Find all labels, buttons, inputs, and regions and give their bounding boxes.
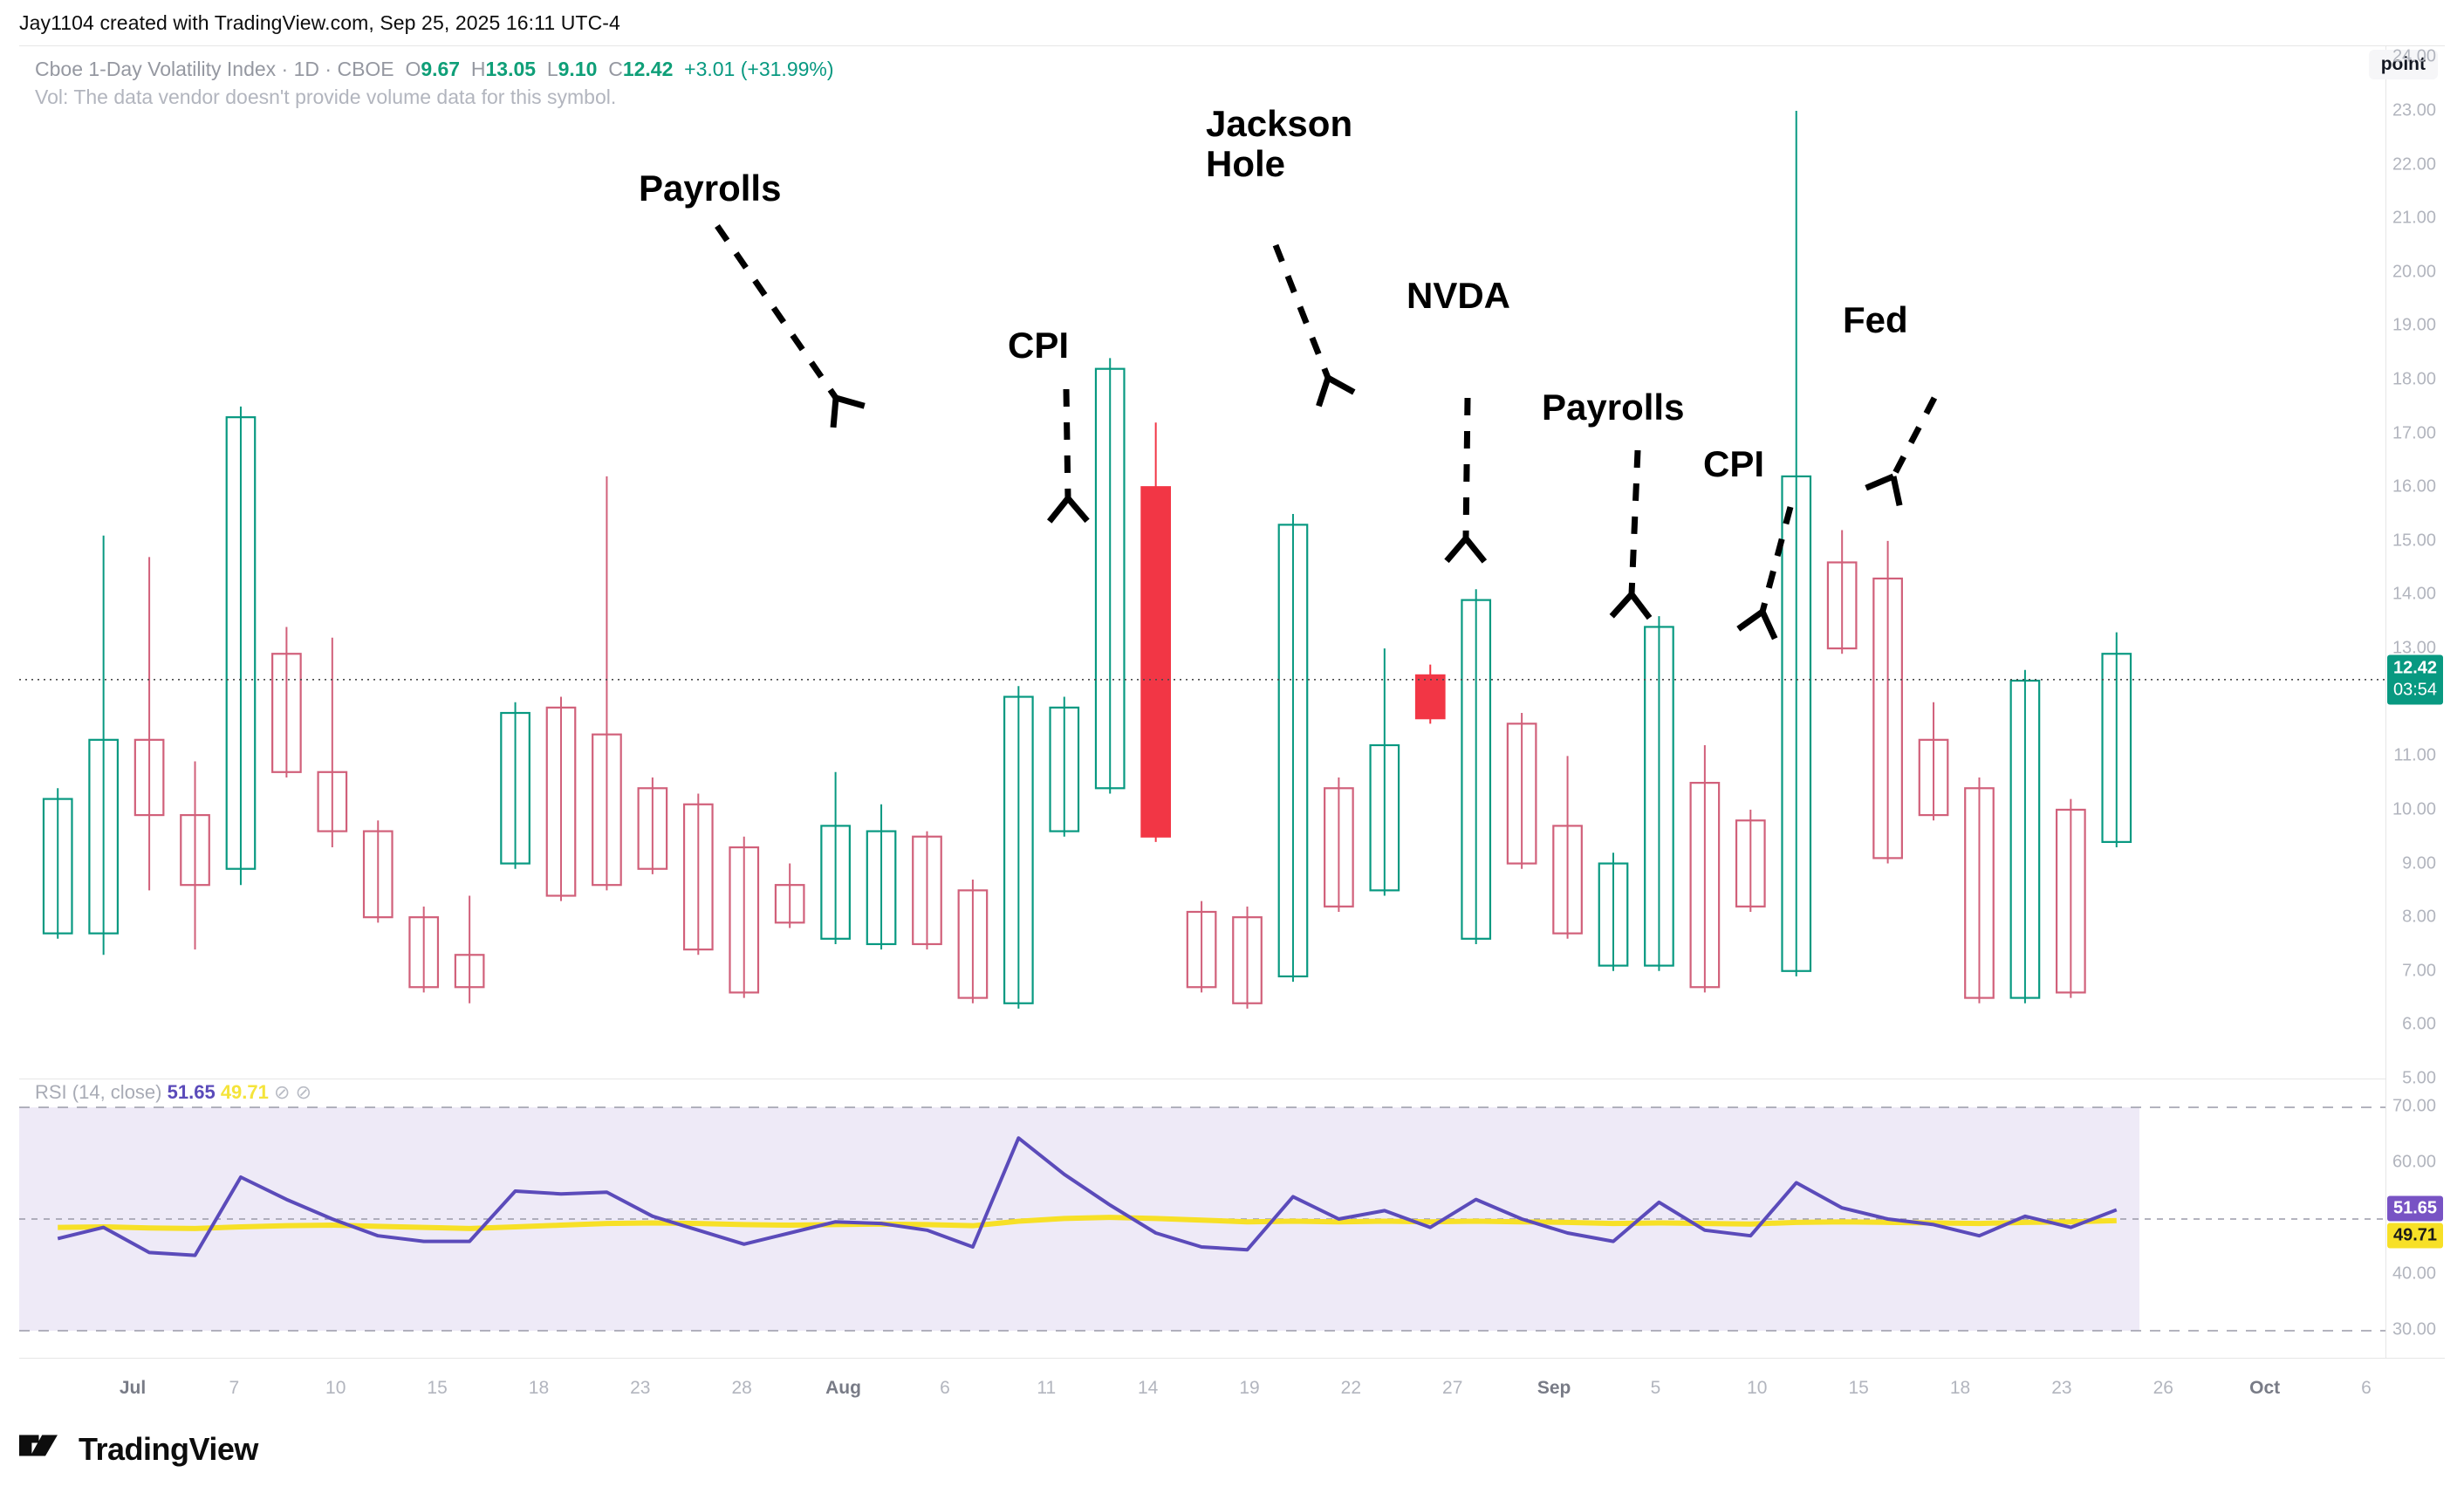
price-tick: 7.00: [2402, 961, 2436, 981]
legend-line-1: Cboe 1-Day Volatility Index · 1D · CBOE …: [35, 55, 834, 83]
high-label: H: [471, 58, 486, 80]
price-pane[interactable]: Cboe 1-Day Volatility Index · 1D · CBOE …: [19, 46, 2385, 1079]
price-tick: 6.00: [2402, 1015, 2436, 1035]
time-tick-month: Jul: [120, 1378, 146, 1399]
annotation-arrow-head: [1318, 378, 1328, 406]
time-tick-month: Oct: [2249, 1378, 2280, 1399]
attribution-bar: Jay1104 created with TradingView.com, Se…: [0, 0, 2464, 45]
annotation-arrow-head: [1612, 594, 1632, 616]
annotation-arrow-head: [1447, 538, 1466, 561]
annotation-arrow-head: [1762, 612, 1775, 639]
candle-body: [1141, 487, 1170, 836]
time-tick-day: 27: [1442, 1378, 1462, 1399]
rsi-pane[interactable]: RSI (14, close) 51.65 49.71 ⊘ ⊘: [19, 1079, 2385, 1358]
annotation-arrow-head: [1738, 612, 1762, 629]
rsi-tick: 30.00: [2392, 1320, 2436, 1340]
time-tick-day: 22: [1341, 1378, 1361, 1399]
annotation-arrow-head: [1632, 594, 1650, 618]
annotation-label[interactable]: NVDA: [1407, 276, 1510, 316]
price-tick: 19.00: [2392, 316, 2436, 336]
time-tick-day: 18: [1950, 1378, 1970, 1399]
rsi-indicator-name[interactable]: RSI (14, close): [35, 1081, 162, 1103]
annotation-arrow-head: [1068, 498, 1087, 521]
legend-interval[interactable]: 1D: [294, 58, 319, 80]
time-tick-day: 7: [229, 1378, 240, 1399]
annotation-arrow-line: [1066, 389, 1068, 498]
price-tick: 17.00: [2392, 423, 2436, 443]
rsi-ma-value-badge: 49.71: [2387, 1223, 2443, 1248]
legend-sep-1: ·: [276, 58, 293, 80]
rsi-tick: 60.00: [2392, 1153, 2436, 1173]
annotation-arrow-head: [1466, 538, 1484, 561]
annotation-arrow-line: [1466, 398, 1468, 538]
candle-body: [1416, 675, 1445, 718]
price-tick: 8.00: [2402, 908, 2436, 928]
annotation-label[interactable]: Jackson Hole: [1206, 104, 1352, 184]
price-tick: 24.00: [2392, 47, 2436, 67]
rsi-tick: 40.00: [2392, 1264, 2436, 1284]
candlestick-canvas: [19, 46, 2385, 1079]
annotation-arrow-head: [833, 398, 836, 428]
chart-legend: Cboe 1-Day Volatility Index · 1D · CBOE …: [35, 55, 834, 111]
change-percent: (+31.99%): [741, 58, 834, 80]
time-tick-day: 15: [1848, 1378, 1868, 1399]
annotation-arrow-line: [1276, 245, 1328, 378]
legend-exchange: CBOE: [337, 58, 394, 80]
last-price-badge: 12.42 03:54: [2387, 654, 2443, 704]
annotation-arrow-head: [1893, 476, 1899, 505]
time-tick-day: 19: [1239, 1378, 1259, 1399]
annotation-label[interactable]: Payrolls: [1542, 387, 1684, 428]
price-axis[interactable]: point 24.0023.0022.0021.0020.0019.0018.0…: [2385, 46, 2445, 1079]
change-value: +3.01: [684, 58, 735, 80]
bar-countdown: 03:54: [2387, 679, 2443, 701]
rsi-ma-value: 49.71: [221, 1081, 269, 1103]
time-tick-day: 18: [529, 1378, 549, 1399]
annotation-arrow-line: [1632, 450, 1638, 594]
price-tick: 21.00: [2392, 209, 2436, 229]
time-tick-day: 6: [940, 1378, 950, 1399]
annotation-label[interactable]: Payrolls: [639, 168, 781, 209]
time-tick-day: 5: [1651, 1378, 1661, 1399]
high-value: 13.05: [486, 58, 537, 80]
annotation-arrow-line: [717, 226, 836, 398]
tradingview-logo-icon: [19, 1435, 66, 1464]
tradingview-wordmark: TradingView: [79, 1431, 258, 1468]
close-value: 12.42: [623, 58, 674, 80]
time-tick-day: 26: [2153, 1378, 2173, 1399]
footer: TradingView: [19, 1431, 258, 1468]
low-label: L: [547, 58, 558, 80]
price-tick: 16.00: [2392, 477, 2436, 497]
annotation-arrow-line: [1893, 398, 1934, 476]
rsi-legend: RSI (14, close) 51.65 49.71 ⊘ ⊘: [35, 1081, 311, 1104]
annotation-label[interactable]: CPI: [1703, 444, 1764, 484]
open-value: 9.67: [421, 58, 460, 80]
price-tick: 20.00: [2392, 262, 2436, 282]
annotation-label[interactable]: CPI: [1008, 325, 1069, 366]
time-tick-month: Sep: [1537, 1378, 1571, 1399]
low-value: 9.10: [558, 58, 598, 80]
legend-sep-2: ·: [319, 58, 337, 80]
time-tick-day: 10: [325, 1378, 346, 1399]
time-tick-day: 28: [731, 1378, 751, 1399]
time-tick-day: 11: [1037, 1378, 1056, 1399]
settings-hidden-icon[interactable]: ⊘: [296, 1081, 311, 1103]
rsi-value: 51.65: [168, 1081, 216, 1103]
time-axis[interactable]: Jul71015182328Aug61114192227Sep510151823…: [19, 1358, 2445, 1421]
attribution-text: Jay1104 created with TradingView.com, Se…: [19, 11, 620, 35]
eye-off-icon[interactable]: ⊘: [274, 1081, 290, 1103]
price-tick: 23.00: [2392, 100, 2436, 120]
close-label: C: [608, 58, 623, 80]
annotation-arrow-head: [1866, 476, 1893, 488]
time-tick-day: 15: [427, 1378, 447, 1399]
time-tick-month: Aug: [825, 1378, 861, 1399]
price-tick: 11.00: [2393, 746, 2436, 766]
open-label: O: [405, 58, 421, 80]
annotation-arrow-head: [1050, 498, 1068, 522]
rsi-canvas: [19, 1079, 2385, 1358]
rsi-tick: 70.00: [2392, 1097, 2436, 1117]
last-price-value: 12.42: [2393, 658, 2437, 677]
price-tick: 10.00: [2392, 799, 2436, 819]
annotation-arrow-head: [1328, 378, 1354, 392]
symbol-description[interactable]: Cboe 1-Day Volatility Index: [35, 58, 276, 80]
price-tick: 9.00: [2402, 853, 2436, 873]
time-tick-day: 10: [1747, 1378, 1767, 1399]
price-tick: 22.00: [2392, 154, 2436, 175]
time-tick-day: 14: [1138, 1378, 1158, 1399]
price-tick: 14.00: [2392, 585, 2436, 605]
time-tick-day: 23: [2051, 1378, 2071, 1399]
rsi-value-badge: 51.65: [2387, 1196, 2443, 1222]
price-tick: 18.00: [2392, 370, 2436, 390]
time-tick-day: 6: [2361, 1378, 2372, 1399]
chart-frame: Cboe 1-Day Volatility Index · 1D · CBOE …: [19, 45, 2445, 1421]
annotation-arrow-head: [836, 398, 865, 406]
annotation-label[interactable]: Fed: [1843, 300, 1908, 340]
time-tick-day: 23: [630, 1378, 650, 1399]
rsi-axis[interactable]: 70.0060.0040.0030.00 51.65 49.71: [2385, 1079, 2445, 1358]
price-tick: 15.00: [2392, 531, 2436, 551]
annotation-arrow-line: [1762, 507, 1790, 612]
volume-note: Vol: The data vendor doesn't provide vol…: [35, 83, 834, 111]
